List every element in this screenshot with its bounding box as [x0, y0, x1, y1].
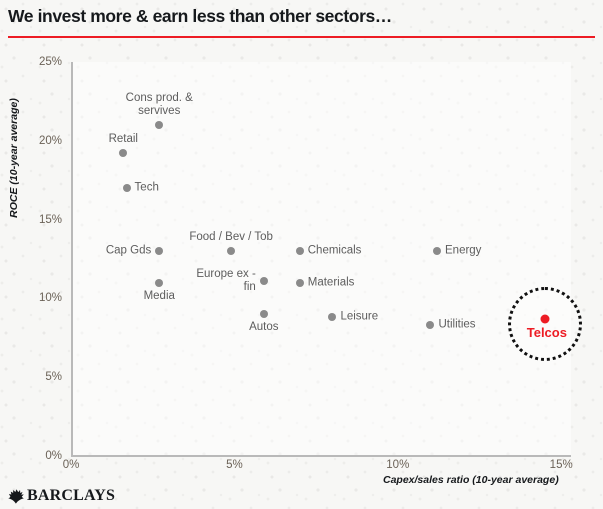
data-point-cap-gds[interactable] [155, 247, 163, 255]
data-point-media[interactable] [155, 279, 163, 287]
x-axis-line [71, 455, 571, 457]
data-point-chemicals[interactable] [296, 247, 304, 255]
data-point-food-bev-tob[interactable] [227, 247, 235, 255]
y-axis-tick-label: 5% [0, 371, 62, 383]
data-label-cons-prod-servives: Cons prod. & servives [126, 92, 193, 118]
x-axis-tick-label: 0% [63, 459, 80, 471]
data-point-tech[interactable] [123, 184, 131, 192]
data-label-europe-ex-fin: Europe ex - fin [196, 268, 255, 294]
barclays-wordmark: BARCLAYS [27, 487, 115, 505]
x-axis-tick-label: 10% [386, 459, 409, 471]
data-label-retail: Retail [109, 133, 138, 146]
data-point-cons-prod-servives[interactable] [155, 121, 163, 129]
data-label-materials: Materials [308, 276, 355, 289]
title-underline-rule [8, 36, 595, 38]
y-axis-tick-label: 0% [0, 450, 62, 462]
data-label-media: Media [144, 290, 175, 303]
data-point-energy[interactable] [433, 247, 441, 255]
y-axis-tick-label: 25% [0, 56, 62, 68]
data-label-autos: Autos [249, 321, 278, 334]
x-axis-tick-label: 5% [226, 459, 243, 471]
telcos-highlight-ring [508, 287, 582, 361]
data-label-food-bev-tob: Food / Bev / Tob [189, 231, 273, 244]
data-point-materials[interactable] [296, 279, 304, 287]
data-label-tech: Tech [135, 182, 159, 195]
data-label-cap-gds: Cap Gds [106, 245, 151, 258]
data-point-telcos[interactable] [540, 314, 549, 323]
data-label-chemicals: Chemicals [308, 245, 362, 258]
data-point-europe-ex-fin[interactable] [260, 277, 268, 285]
data-point-autos[interactable] [260, 310, 268, 318]
chart-header: We invest more & earn less than other se… [0, 0, 603, 44]
y-axis-title: ROCE (10-year average) [8, 78, 20, 238]
scatter-chart: 0%5%10%15%20%25% 0%5%10%15% Cons prod. &… [0, 0, 603, 509]
y-axis-line [71, 62, 73, 456]
plot-area [71, 62, 571, 456]
data-label-leisure: Leisure [340, 311, 378, 324]
data-label-telcos: Telcos [527, 326, 567, 339]
data-label-utilities: Utilities [438, 319, 475, 332]
y-axis-tick-label: 10% [0, 292, 62, 304]
barclays-logo: BARCLAYS [8, 487, 115, 505]
page-title: We invest more & earn less than other se… [8, 6, 392, 27]
data-point-retail[interactable] [119, 149, 127, 157]
data-label-energy: Energy [445, 245, 481, 258]
data-point-leisure[interactable] [328, 313, 336, 321]
barclays-eagle-icon [8, 489, 24, 504]
x-axis-title: Capex/sales ratio (10-year average) [383, 474, 559, 486]
x-axis-tick-label: 15% [550, 459, 573, 471]
data-point-utilities[interactable] [426, 321, 434, 329]
